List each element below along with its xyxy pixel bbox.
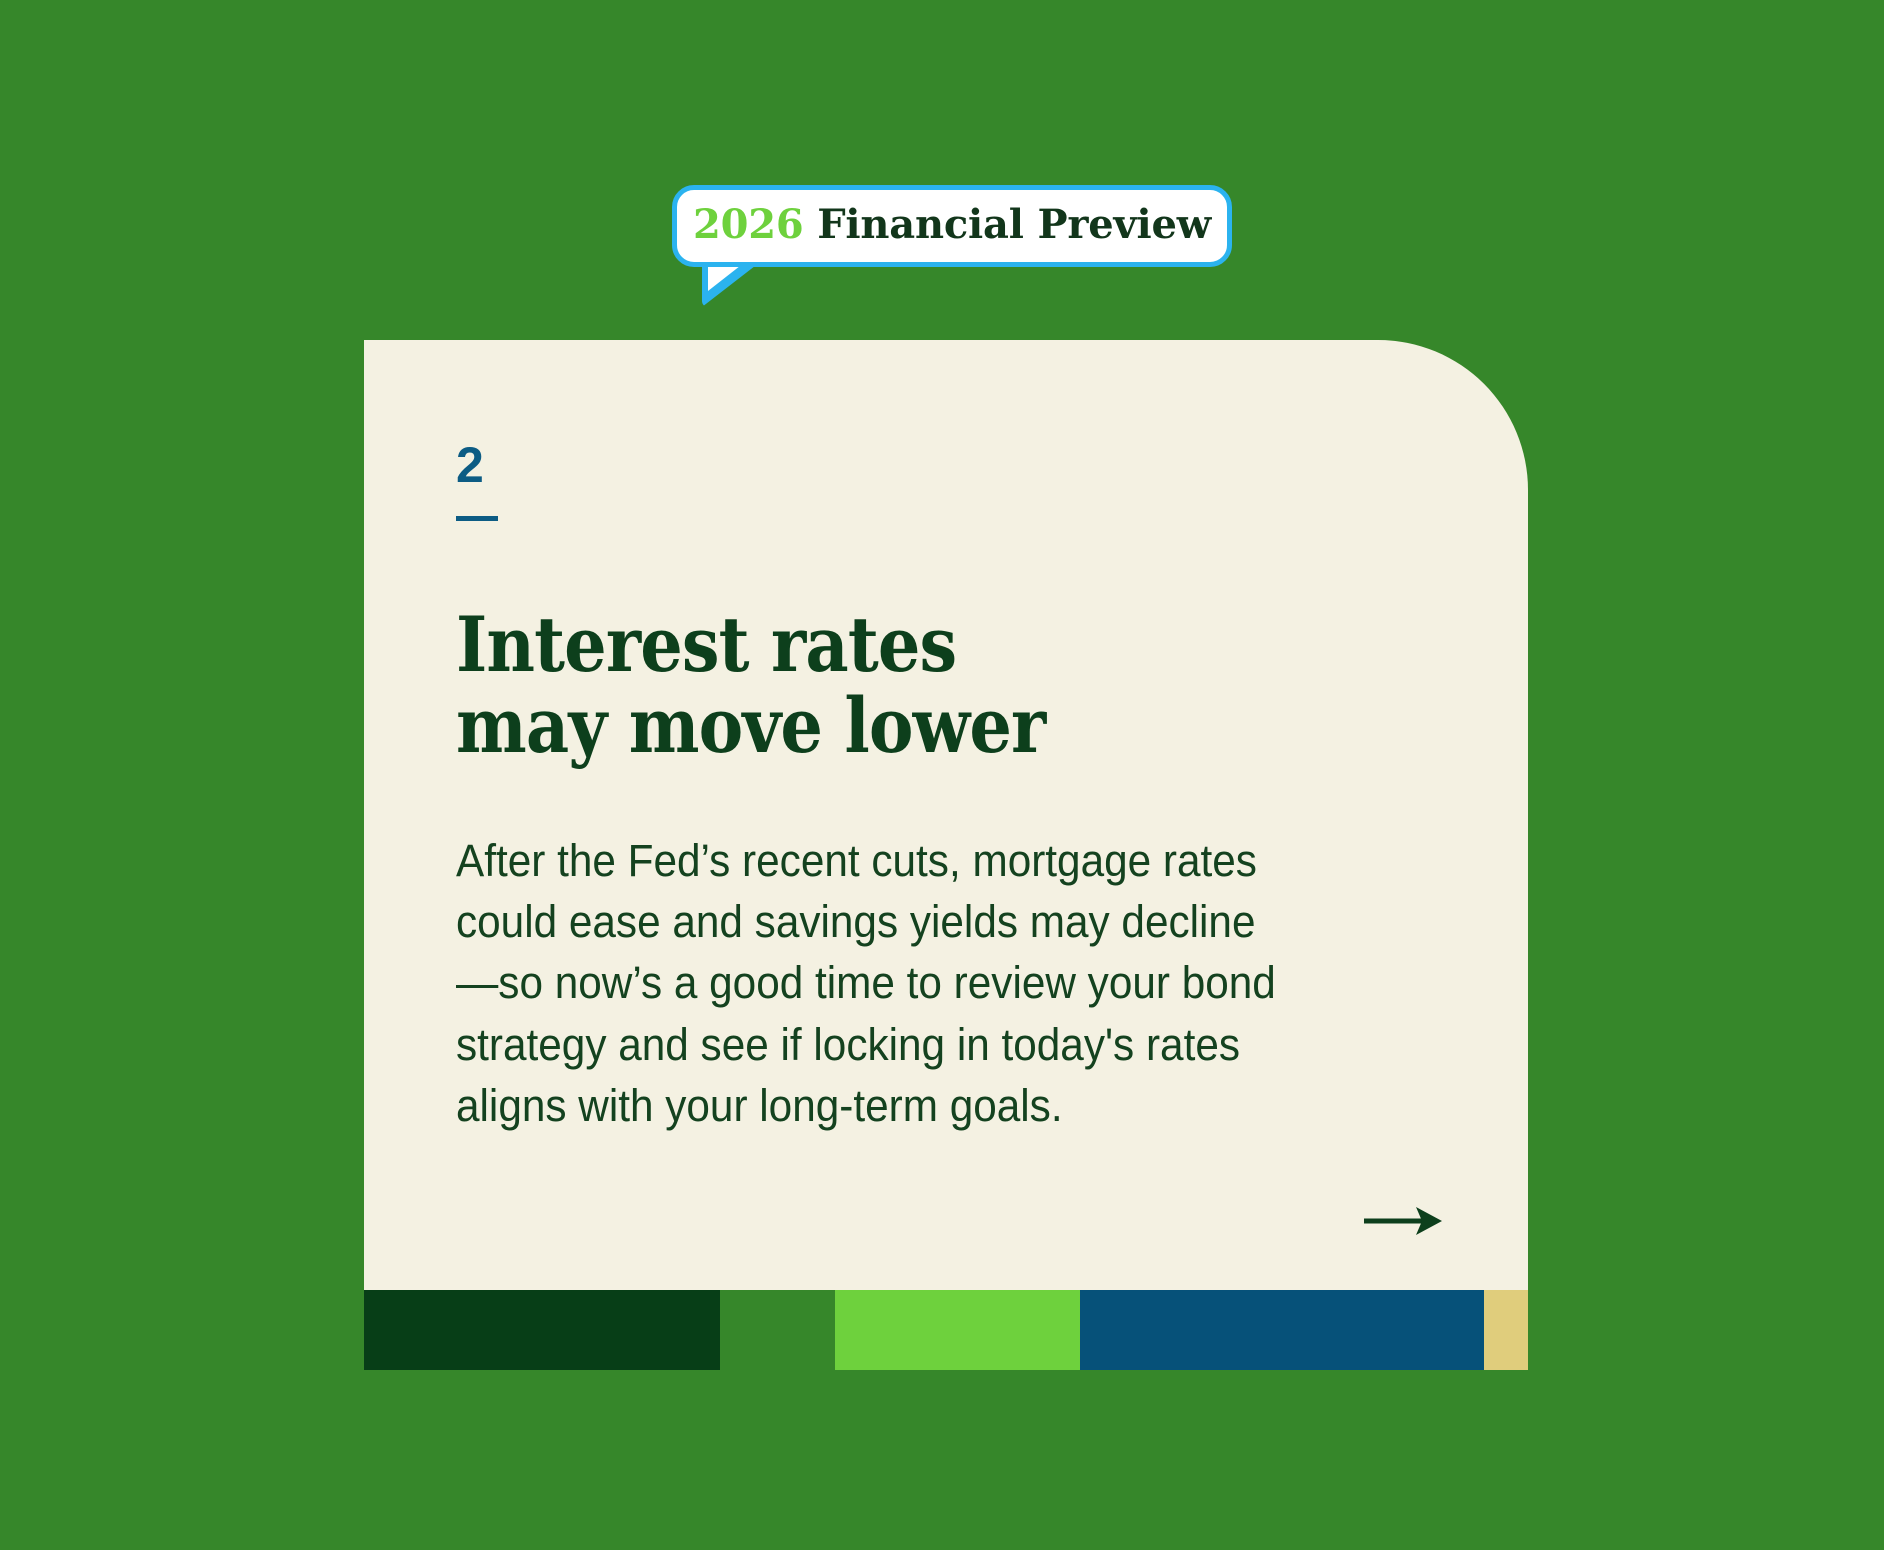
body-paragraph: After the Fed’s recent cuts, mortgage ra… [456, 830, 1283, 1136]
slide-number: 2 [456, 440, 1436, 490]
color-segment-medium-green [720, 1290, 835, 1370]
slide-canvas: 2026 Financial Preview 2 Interest rates … [0, 0, 1884, 1550]
badge-speech-bubble: 2026 Financial Preview [672, 185, 1232, 315]
badge-pill: 2026 Financial Preview [672, 185, 1232, 267]
color-segment-deep-blue [1080, 1290, 1484, 1370]
brand-color-bar [364, 1290, 1528, 1370]
arrow-right-icon[interactable] [1364, 1204, 1442, 1238]
color-segment-bright-green [835, 1290, 1079, 1370]
badge-title: Financial Preview [804, 201, 1212, 248]
color-segment-dark-green [364, 1290, 720, 1370]
page-title: Interest rates may move lower [456, 605, 1125, 766]
badge-year: 2026 [693, 201, 804, 248]
slide-number-rule [456, 516, 498, 521]
color-segment-gold-tan [1484, 1290, 1528, 1370]
content-card: 2 Interest rates may move lower After th… [364, 340, 1528, 1290]
badge-label: 2026 Financial Preview [693, 205, 1211, 245]
